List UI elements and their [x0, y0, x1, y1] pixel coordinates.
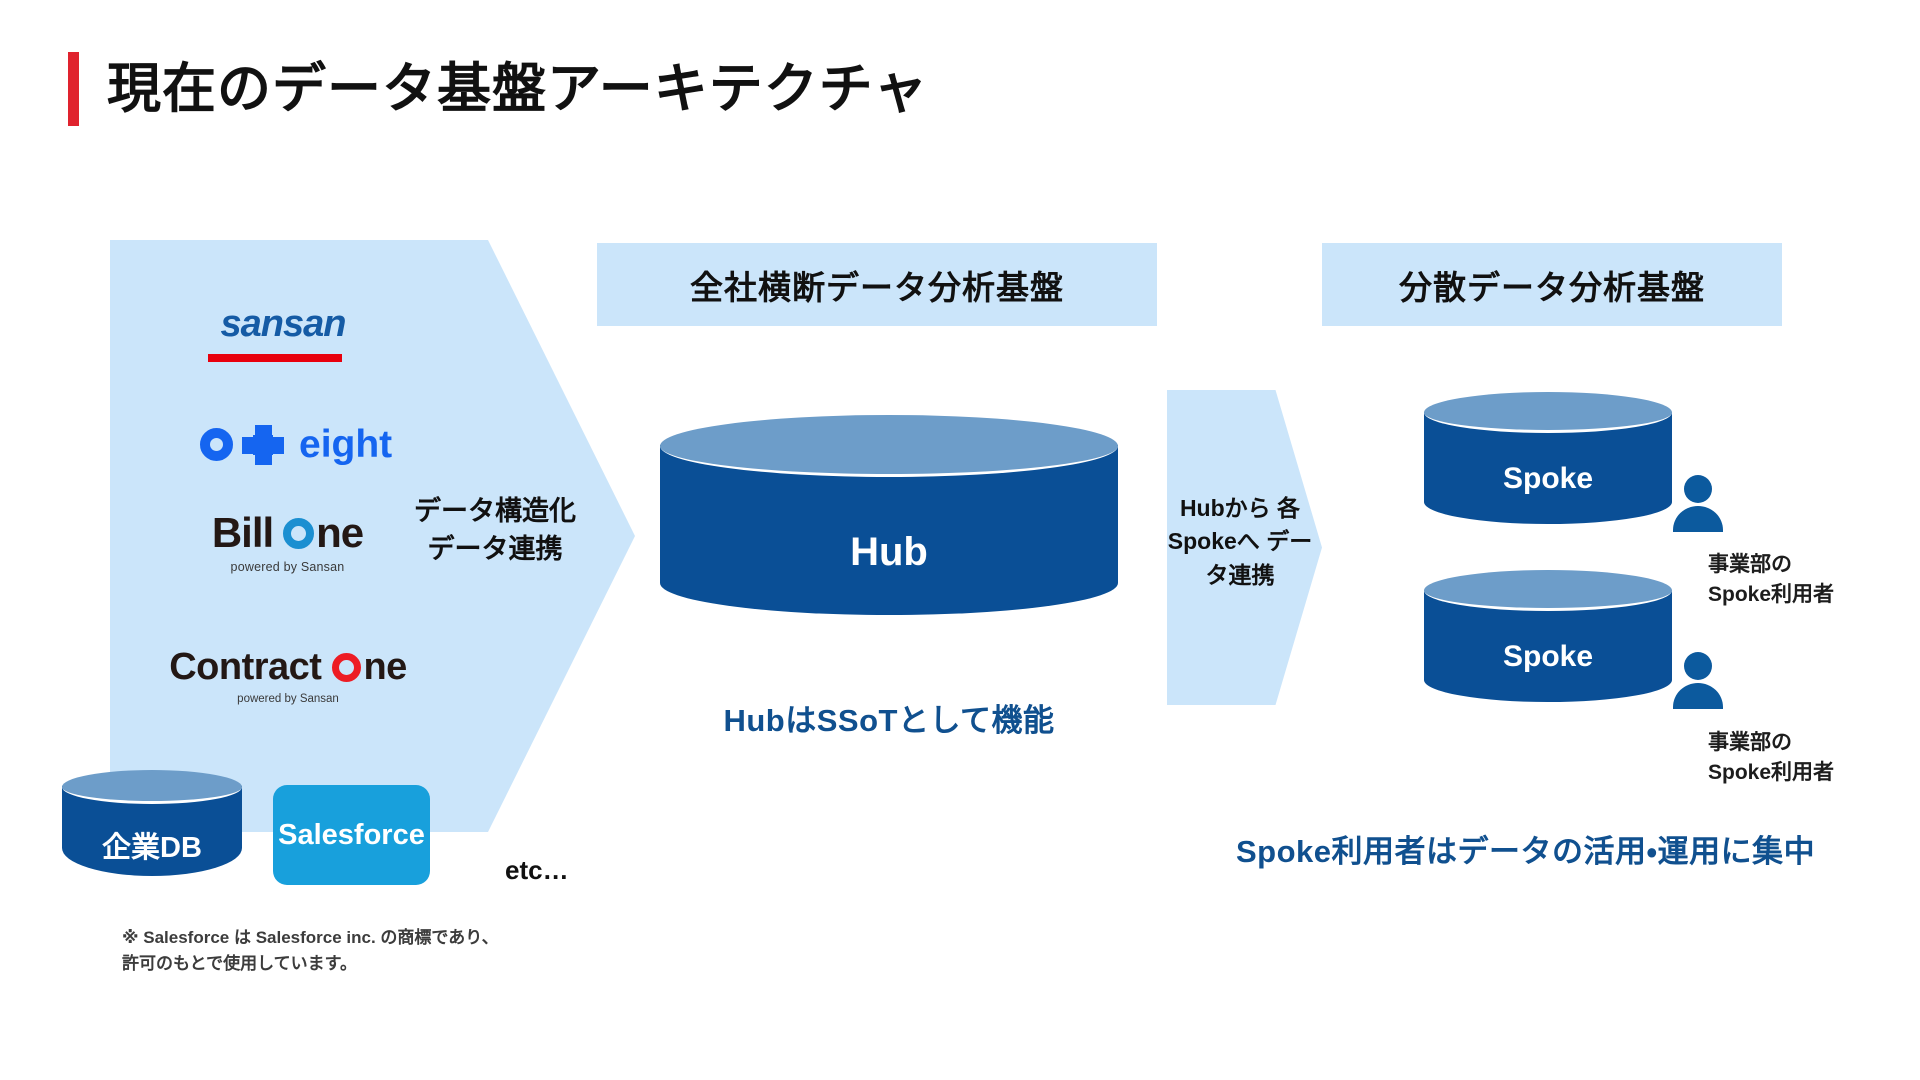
person-icon [1672, 652, 1724, 708]
band-company-wide-analytics: 全社横断データ分析基盤 [597, 243, 1157, 326]
circle-o-icon [332, 653, 361, 682]
cylinder-top-ellipse [660, 415, 1118, 477]
hub-caption: HubはSSoTとして機能 [660, 695, 1118, 740]
logo-eight-wordmark: eight [299, 425, 392, 464]
corporate-db-label: 企業DB [62, 824, 242, 866]
database-corporate-db: 企業DB [62, 770, 242, 892]
hub-to-spoke-arrow-caption: Hubから 各Spokeへ データ連携 [1165, 492, 1315, 592]
spoke-users-caption: Spoke利用者はデータの活用・運用に集中 [1236, 826, 1815, 871]
database-hub: Hub [660, 415, 1118, 640]
salesforce-card: Salesforce [273, 785, 430, 885]
logo-contract-one-wordmark: Contract ne [158, 648, 418, 686]
spoke-1-user-label: 事業部の Spoke利用者 [1708, 550, 1834, 611]
spoke-2-user-label: 事業部の Spoke利用者 [1708, 728, 1834, 789]
eight-cross-icon [246, 428, 280, 462]
logo-contract-one-subtitle: powered by Sansan [158, 693, 418, 705]
cylinder-top-ellipse [62, 770, 242, 804]
title-text: 現在のデータ基盤アーキテクチャ [107, 62, 928, 116]
person-icon [1672, 475, 1724, 531]
logo-contract-one-word-a: Contract [169, 648, 321, 686]
source-arrow-caption: データ構造化 データ連携 [400, 492, 590, 569]
logo-bill-one-wordmark: Bill ne [205, 512, 370, 554]
logo-bill-one-word-b: ne [316, 512, 363, 554]
eight-ring-icon [200, 428, 233, 461]
circle-o-icon [283, 518, 314, 549]
logo-bill-one: Bill ne powered by Sansan [205, 512, 370, 574]
page-title: 現在のデータ基盤アーキテクチャ [68, 52, 928, 126]
band-distributed-analytics: 分散データ分析基盤 [1322, 243, 1782, 326]
trademark-footnote: ※ Salesforce は Salesforce inc. の商標であり、 許… [122, 925, 499, 978]
logo-sansan-wordmark: sansan [208, 305, 358, 343]
etc-label: etc… [505, 855, 569, 886]
title-accent-bar [68, 52, 79, 126]
cylinder-top-ellipse [1424, 392, 1672, 433]
logo-contract-one: Contract ne powered by Sansan [158, 648, 418, 705]
logo-bill-one-subtitle: powered by Sansan [205, 560, 370, 574]
slide-canvas: 現在のデータ基盤アーキテクチャ sansan eight Bill ne pow… [0, 0, 1920, 1080]
logo-bill-one-word-a: Bill [212, 512, 273, 554]
cylinder-top-ellipse [1424, 570, 1672, 611]
band-company-wide-label: 全社横断データ分析基盤 [690, 261, 1064, 309]
logo-sansan: sansan [208, 305, 358, 362]
database-spoke-2: Spoke [1424, 570, 1672, 718]
spoke-1-label: Spoke [1424, 462, 1672, 496]
hub-label: Hub [660, 530, 1118, 575]
band-distributed-label: 分散データ分析基盤 [1399, 261, 1705, 309]
salesforce-label: Salesforce [278, 819, 425, 852]
logo-contract-one-word-b: ne [363, 648, 406, 686]
logo-eight: eight [200, 425, 392, 464]
database-spoke-1: Spoke [1424, 392, 1672, 540]
logo-sansan-underline [208, 354, 342, 362]
spoke-2-label: Spoke [1424, 640, 1672, 674]
